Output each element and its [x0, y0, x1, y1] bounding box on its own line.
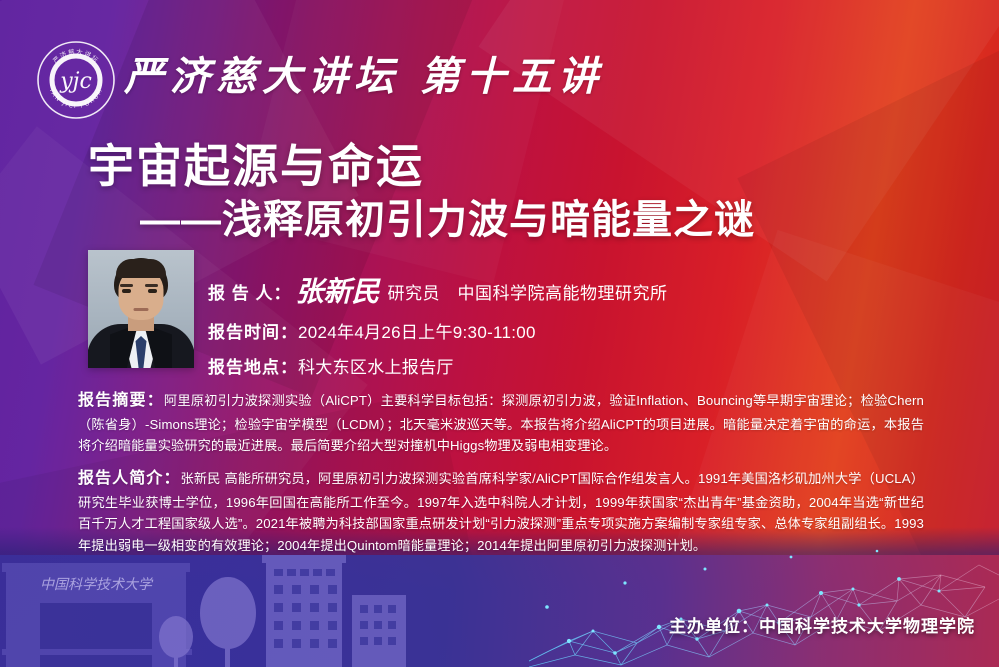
time-row: 报告时间： 2024年4月26日上午9:30-11:00 — [208, 318, 667, 343]
abstract-paragraph: 报告摘要：阿里原初引力波探测实验（AliCPT）主要科学目标包括：探测原初引力波… — [78, 388, 924, 457]
speaker-info-block: 报 告 人： 张新民 研究员 中国科学院高能物理研究所 报告时间： 2024年4… — [208, 268, 667, 388]
speaker-portrait — [88, 250, 194, 368]
page-subtitle: ——浅释原初引力波与暗能量之谜 — [140, 187, 755, 245]
portrait-mouth — [134, 308, 149, 311]
speaker-row: 报 告 人： 张新民 研究员 中国科学院高能物理研究所 — [208, 268, 667, 308]
bio-paragraph: 报告人简介：张新民 高能所研究员，阿里原初引力波探测实验首席科学家/AliCPT… — [78, 466, 924, 556]
abstract-colon: ： — [147, 392, 164, 409]
poster-canvas: 中国科学技术大学 — [0, 0, 999, 667]
portrait-hair-top — [116, 259, 166, 278]
speaker-label: 报 告 人： — [208, 279, 291, 304]
portrait-brow — [120, 284, 133, 287]
forum-title: 严济慈大讲坛 第十五讲 — [124, 44, 604, 102]
place-value: 科大东区水上报告厅 — [298, 353, 454, 378]
abstract-text: 阿里原初引力波探测实验（AliCPT）主要科学目标包括：探测原初引力波，验证In… — [78, 393, 924, 453]
place-row: 报告地点： 科大东区水上报告厅 — [208, 353, 667, 378]
svg-text:yjc: yjc — [59, 69, 92, 94]
speaker-affiliation: 研究员 中国科学院高能物理研究所 — [387, 279, 667, 304]
portrait-eye — [122, 289, 131, 293]
bio-label: 报告人简介 — [78, 470, 163, 487]
gate-inscription: 中国科学技术大学 — [40, 577, 154, 593]
bio-colon: ： — [163, 470, 180, 487]
bio-text: 张新民 高能所研究员，阿里原初引力波探测实验首席科学家/AliCPT国际合作组发… — [78, 471, 924, 553]
speaker-name: 张新民 — [295, 270, 379, 310]
place-label: 报告地点： — [208, 353, 298, 378]
yan-jici-forum-logo: yjc 严济慈大讲坛 YAN JICI FORUM — [36, 40, 116, 120]
time-value: 2024年4月26日上午9:30-11:00 — [298, 318, 536, 343]
campus-gate-silhouette: 中国科学技术大学 — [0, 555, 430, 667]
organizer-text: 主办单位：中国科学技术大学物理学院 — [669, 612, 975, 637]
abstract-label: 报告摘要 — [78, 392, 147, 409]
portrait-eye — [148, 289, 157, 293]
time-label: 报告时间： — [208, 318, 298, 343]
portrait-brow — [145, 284, 158, 287]
